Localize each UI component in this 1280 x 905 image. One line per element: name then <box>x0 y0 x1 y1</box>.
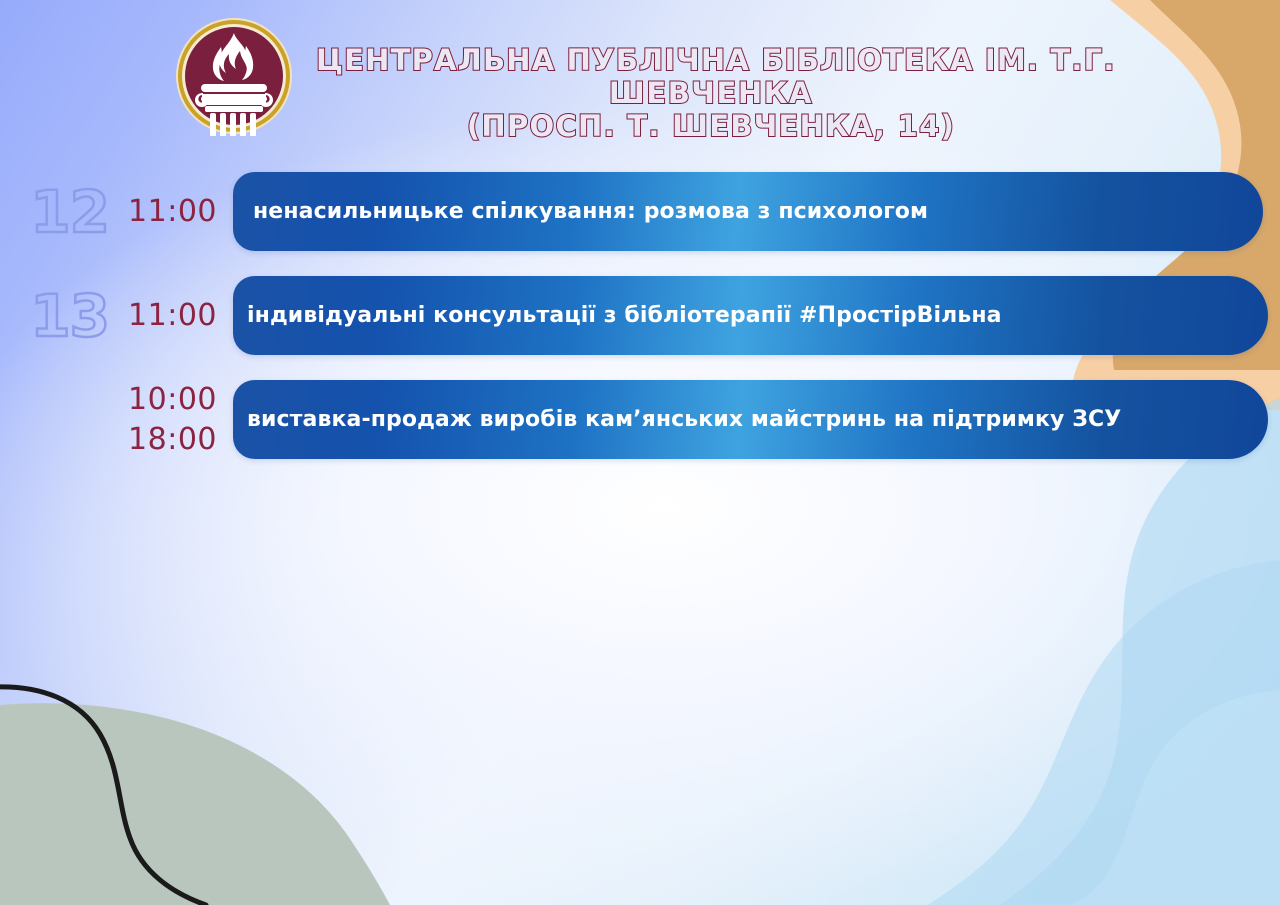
lightblue-blob-bottom-right-a <box>928 560 1280 905</box>
event-title: індивідуальні консультації з бібліотерап… <box>247 303 1002 329</box>
event-time-start: 10:00 <box>128 382 217 417</box>
lightblue-blob-bottom-right-c <box>1070 690 1280 905</box>
event-title: виставка-продаж виробів кам’янських майс… <box>247 407 1121 433</box>
title-line-3: (ПРОСП. Т. ШЕВЧЕНКА, 14) <box>316 110 1106 143</box>
black-curve-bottom-left-shape <box>0 687 206 905</box>
poster-header: ЦЕНТРАЛЬНА ПУБЛІЧНА БІБЛІОТЕКА ІМ. Т.Г. … <box>0 14 1280 143</box>
library-flame-column-emblem-icon <box>174 16 294 136</box>
schedule-row: 13 11:00 індивідуальні консультації з бі… <box>0 276 1280 355</box>
event-time-start: 11:00 <box>128 298 217 333</box>
event-time-cell: 10:00 18:00 <box>115 380 233 460</box>
day-number: 12 <box>30 183 109 241</box>
event-time-cell: 11:00 <box>115 296 233 336</box>
event-time-end: 18:00 <box>115 420 217 460</box>
day-number-cell: 12 <box>0 183 115 241</box>
day-number-cell: 13 <box>0 287 115 345</box>
poster-canvas: ЦЕНТРАЛЬНА ПУБЛІЧНА БІБЛІОТЕКА ІМ. Т.Г. … <box>0 0 1280 905</box>
title-line-1: ЦЕНТРАЛЬНА ПУБЛІЧНА БІБЛІОТЕКА ІМ. Т.Г. <box>316 44 1106 77</box>
event-time-cell: 11:00 <box>115 192 233 232</box>
poster-title: ЦЕНТРАЛЬНА ПУБЛІЧНА БІБЛІОТЕКА ІМ. Т.Г. … <box>316 14 1106 143</box>
event-pill[interactable]: виставка-продаж виробів кам’янських майс… <box>233 380 1268 459</box>
event-schedule: 12 11:00 ненасильницьке спілкування: роз… <box>0 172 1280 484</box>
title-line-2: ШЕВЧЕНКА <box>316 77 1106 110</box>
schedule-row: 10:00 18:00 виставка-продаж виробів кам’… <box>0 380 1280 459</box>
event-time-start: 11:00 <box>128 194 217 229</box>
schedule-row: 12 11:00 ненасильницьке спілкування: роз… <box>0 172 1280 251</box>
event-pill[interactable]: індивідуальні консультації з бібліотерап… <box>233 276 1268 355</box>
day-number: 13 <box>30 287 109 345</box>
event-title: ненасильницьке спілкування: розмова з пс… <box>247 199 928 225</box>
event-pill[interactable]: ненасильницьке спілкування: розмова з пс… <box>233 172 1263 251</box>
sage-blob-bottom-left-shape <box>0 703 390 905</box>
library-logo <box>174 14 294 141</box>
